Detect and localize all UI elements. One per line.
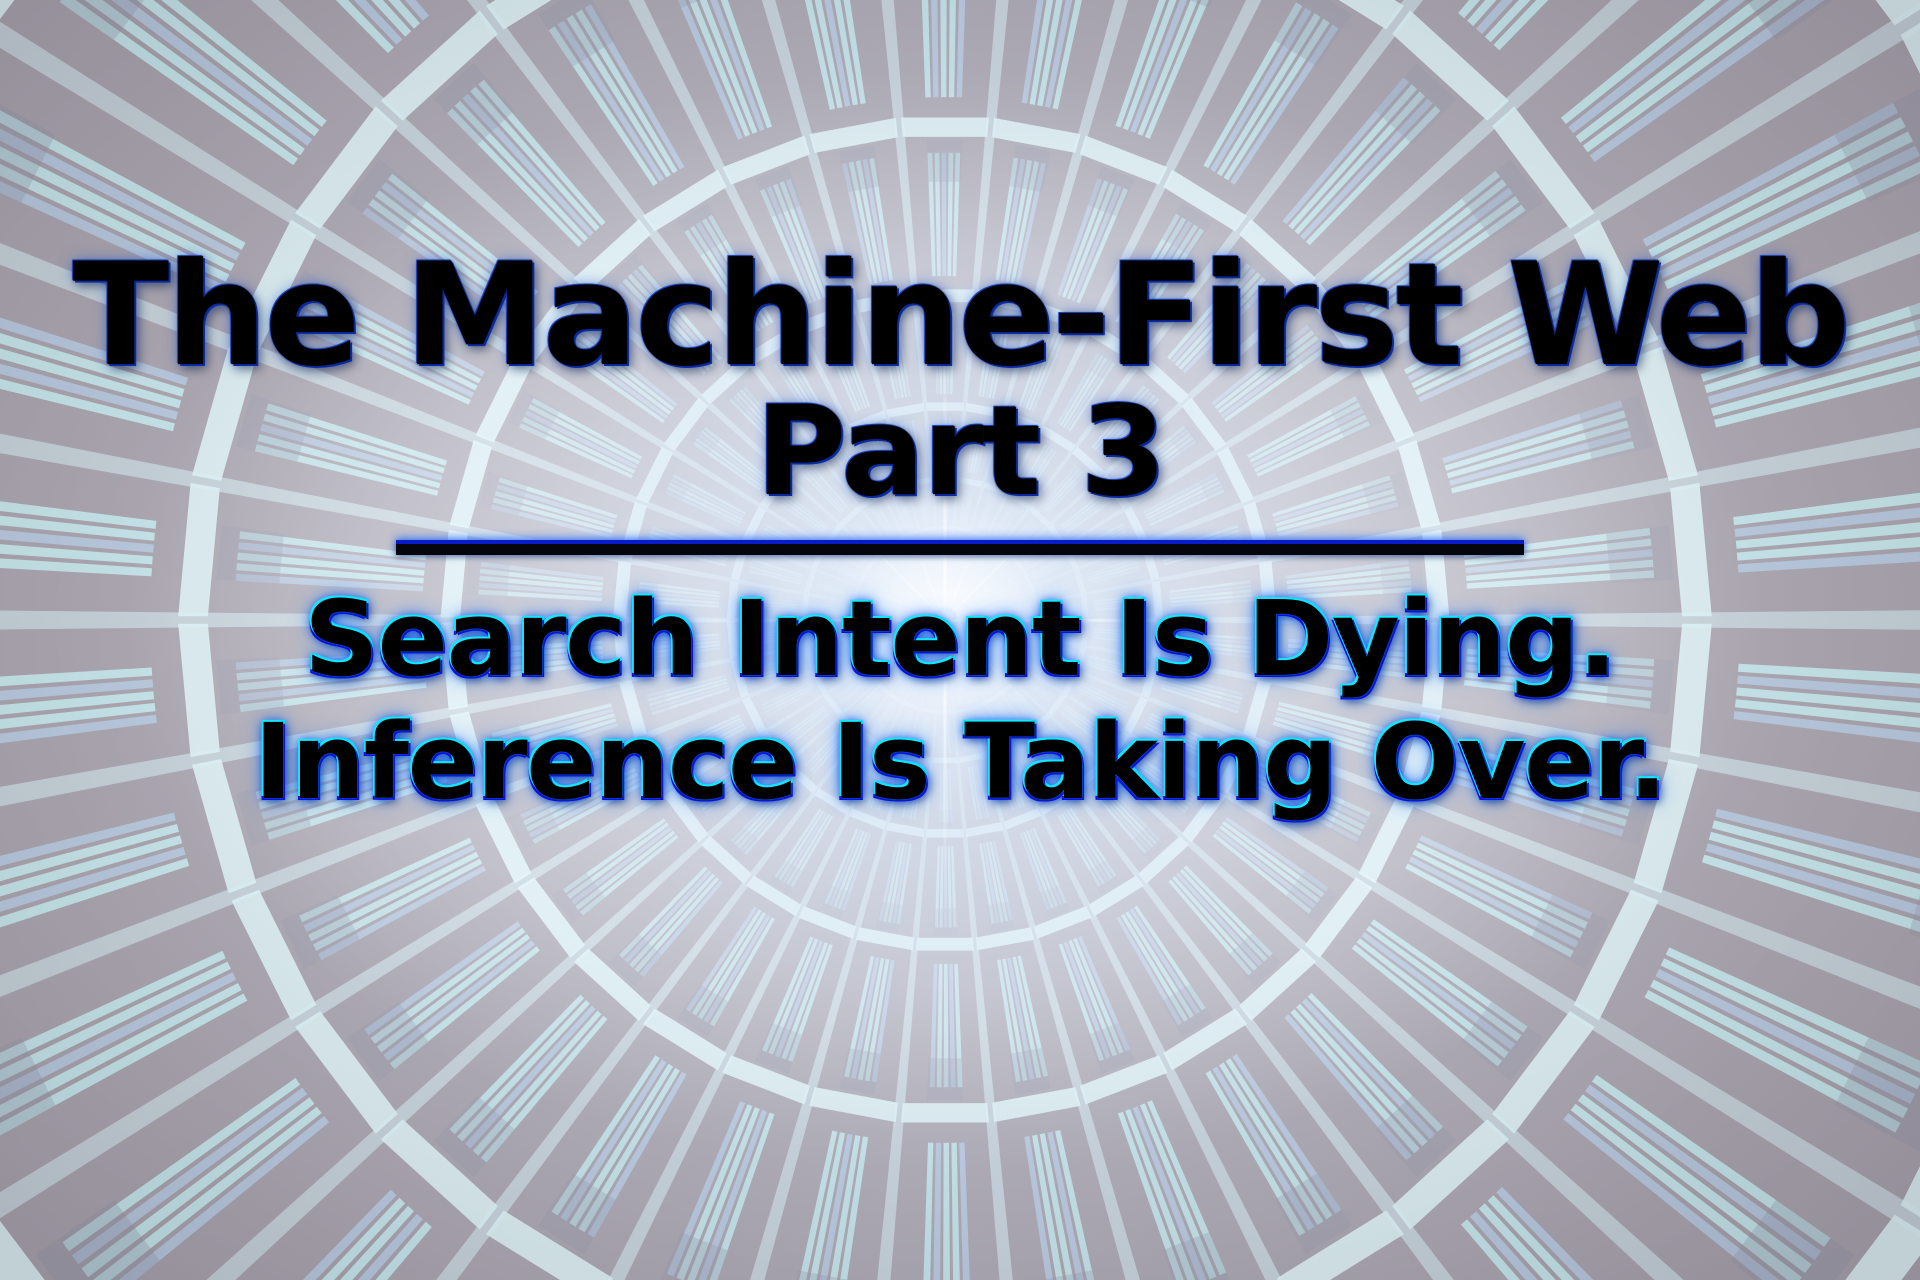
slide-canvas: The Machine-First Web Part 3 Search Inte…	[0, 0, 1920, 1280]
background-tunnel-image	[0, 0, 1920, 1280]
